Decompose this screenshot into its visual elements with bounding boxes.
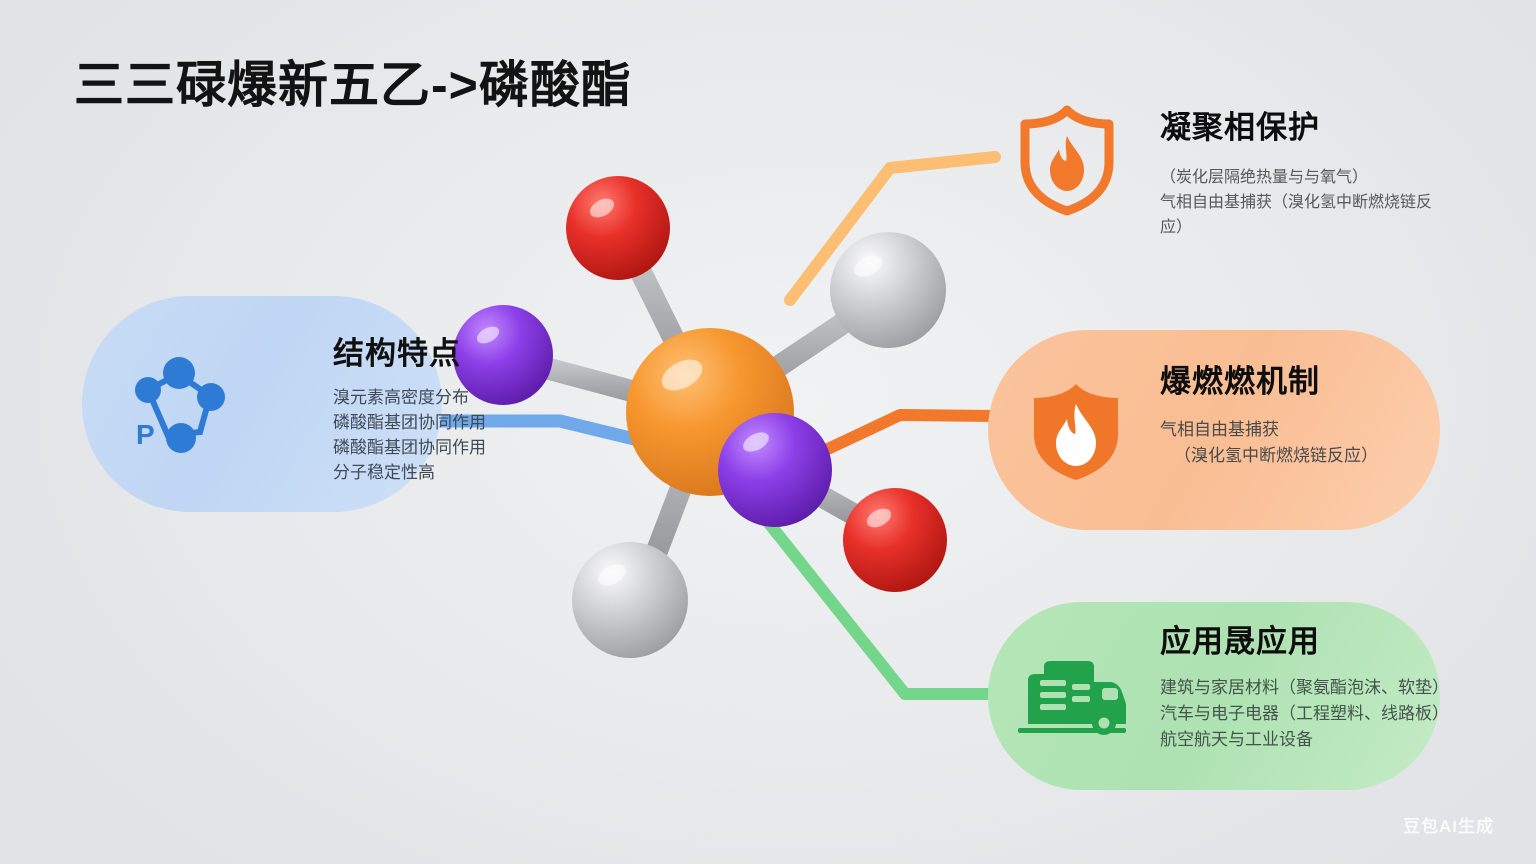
deflagration-mechanism-line-2: （溴化氢中断燃烧链反应） xyxy=(1160,443,1378,469)
deflagration-mechanism-card[interactable]: 爆燃燃机制 气相自由基捕获 （溴化氢中断燃烧链反应） xyxy=(988,330,1440,530)
svg-text:P: P xyxy=(136,419,155,450)
structure-features-body: 结构特点 溴元素高密度分布 磷酸酯基团协同作用 磷酸酯基团协同作用 分子稳定性高 xyxy=(257,328,447,485)
structure-features-line-2: 磷酸酯基团协同作用 xyxy=(333,410,447,435)
truck-building-icon xyxy=(1014,654,1134,744)
structure-features-card[interactable]: P 结构特点 溴元素高密度分布 磷酸酯基团协同作用 磷酸酯基团协同作用 分子稳定… xyxy=(82,296,442,512)
structure-features-heading: 结构特点 xyxy=(333,328,447,373)
applications-card[interactable]: 应用晟应用 建筑与家居材料（聚氨酯泡沫、软垫） 汽车与电子电器（工程塑料、线路板… xyxy=(988,602,1440,790)
atom-gray-topright xyxy=(830,232,946,348)
structure-features-line-1: 溴元素高密度分布 xyxy=(333,385,447,410)
deflagration-mechanism-heading: 爆燃燃机制 xyxy=(1160,356,1378,401)
slide-canvas: 三三碌爆新五乙->磷酸酯 xyxy=(0,0,1536,864)
applications-line-3: 航空航天与工业设备 xyxy=(1160,727,1449,753)
condensed-phase-protection-line-2: 气相自由基捕获（溴化氢中断燃烧链反 xyxy=(1160,190,1510,215)
deflagration-mechanism-line-1: 气相自由基捕获 xyxy=(1160,417,1378,443)
deflagration-mechanism-body: 爆燃燃机制 气相自由基捕获 （溴化氢中断燃烧链反应） xyxy=(1160,356,1378,469)
ai-watermark: 豆包AI生成 xyxy=(1403,812,1494,837)
molecule-3d-illustration xyxy=(430,150,990,690)
atom-gray-bottom xyxy=(572,542,688,658)
structure-features-line-3: 磷酸酯基团协同作用 xyxy=(333,435,447,460)
phosphate-molecule-icon: P xyxy=(128,352,238,462)
shield-flame-outline-icon xyxy=(1016,104,1118,216)
applications-line-1: 建筑与家居材料（聚氨酯泡沫、软垫） xyxy=(1160,675,1449,701)
condensed-phase-protection-line-3: 应） xyxy=(1160,215,1510,240)
applications-heading: 应用晟应用 xyxy=(1160,616,1449,661)
shield-flame-filled-icon xyxy=(1024,380,1128,484)
atom-red-bottomright xyxy=(843,488,947,592)
structure-features-line-4: 分子稳定性高 xyxy=(333,460,447,485)
condensed-phase-protection-heading: 凝聚相保护 xyxy=(1160,102,1510,147)
atom-red-top xyxy=(566,176,670,280)
applications-body: 应用晟应用 建筑与家居材料（聚氨酯泡沫、软垫） 汽车与电子电器（工程塑料、线路板… xyxy=(1160,616,1449,753)
condensed-phase-protection-line-1: （炭化层隔绝热量与与氧气） xyxy=(1160,165,1510,190)
condensed-phase-protection-block[interactable]: 凝聚相保护 （炭化层隔绝热量与与氧气） 气相自由基捕获（溴化氢中断燃烧链反 应） xyxy=(1010,98,1510,248)
condensed-phase-protection-body: 凝聚相保护 （炭化层隔绝热量与与氧气） 气相自由基捕获（溴化氢中断燃烧链反 应） xyxy=(1160,102,1510,240)
atom-purple-center-right xyxy=(718,413,832,527)
applications-line-2: 汽车与电子电器（工程塑料、线路板） xyxy=(1160,701,1449,727)
